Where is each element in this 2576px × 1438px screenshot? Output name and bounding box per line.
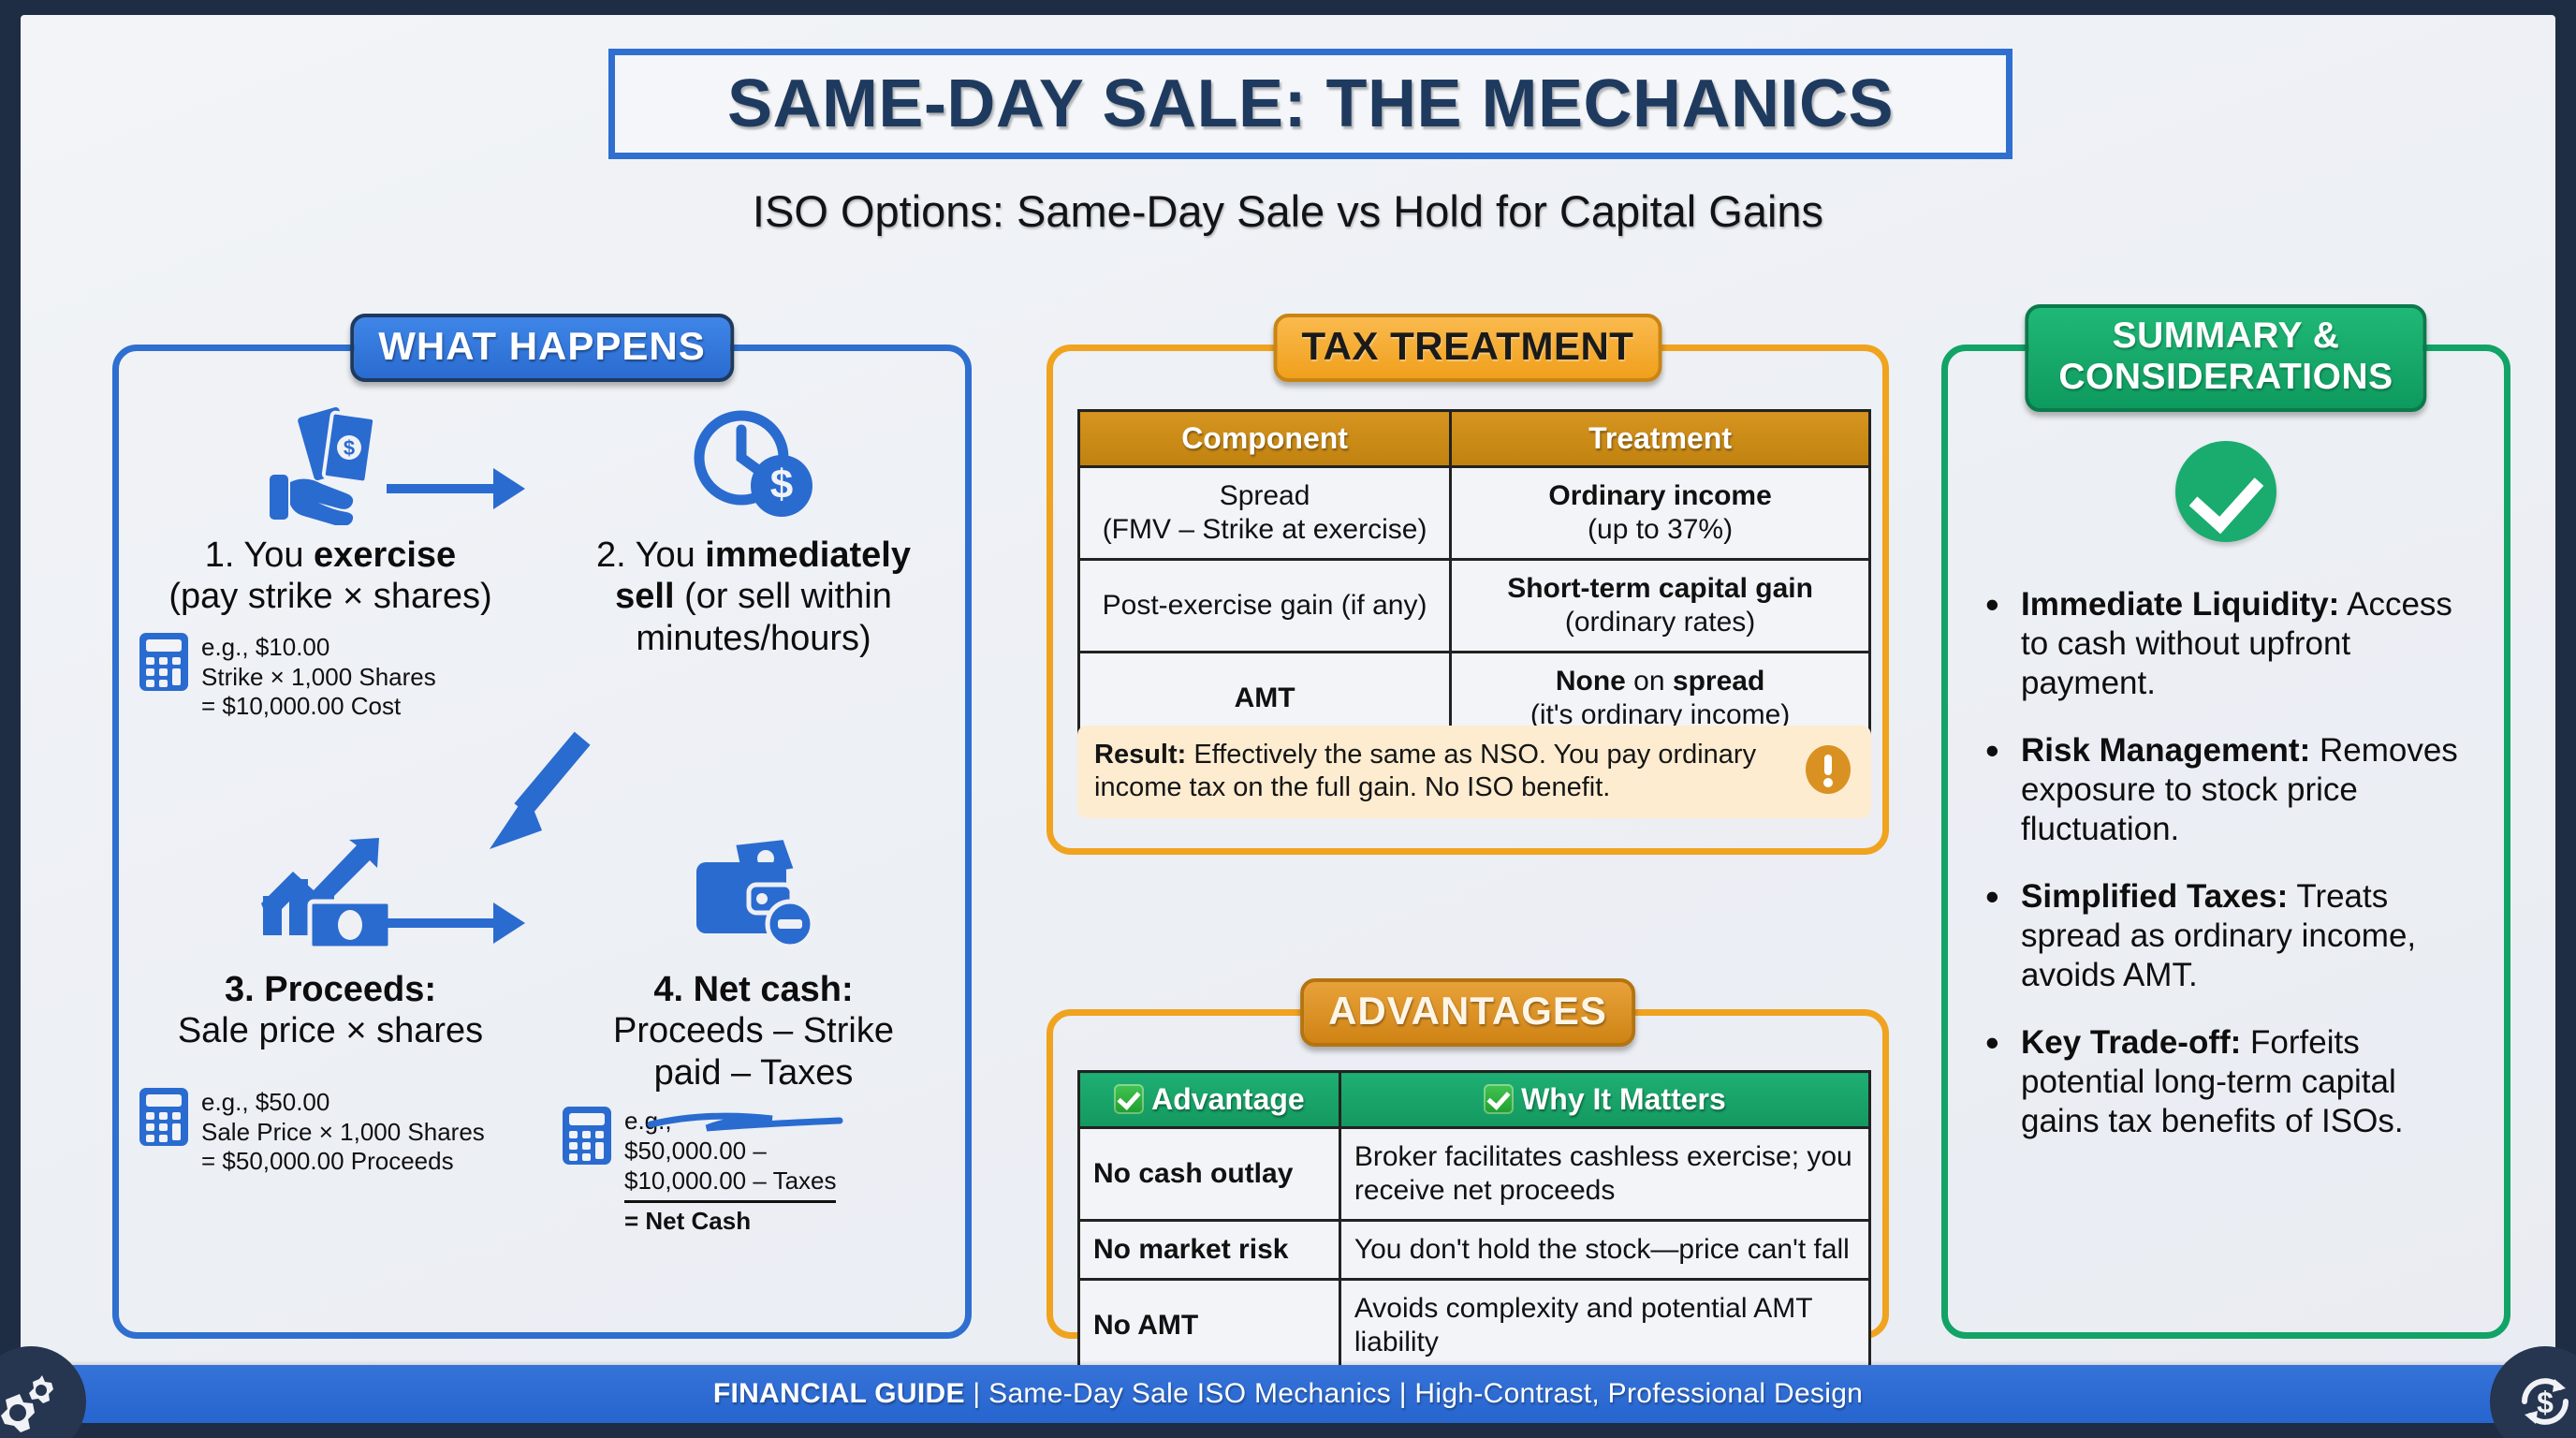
list-item: Simplified Taxes: Treats spread as ordin… bbox=[1980, 877, 2483, 995]
tax-row-3-treatment-bold-b: spread bbox=[1673, 666, 1764, 697]
list-item: Immediate Liquidity: Access to cash with… bbox=[1980, 585, 2483, 703]
table-header-row: Advantage Why It Matters bbox=[1079, 1072, 1870, 1128]
step-3-line1: 3. Proceeds: bbox=[225, 970, 436, 1009]
tax-row-2-treatment: Short-term capital gain (ordinary rates) bbox=[1451, 560, 1870, 653]
green-check-circle-icon bbox=[2175, 441, 2276, 542]
title-frame: SAME-DAY SALE: THE MECHANICS bbox=[608, 49, 2012, 159]
step-4-calc-line-2: $50,000.00 – bbox=[624, 1137, 767, 1165]
step-3-calc-line-3: = $50,000.00 Proceeds bbox=[201, 1147, 454, 1175]
step-3-calc-line-2: Sale Price × 1,000 Shares bbox=[201, 1118, 485, 1146]
step-2-line2-bold: sell bbox=[615, 577, 674, 616]
step-1-line1-bold: exercise bbox=[314, 536, 456, 575]
page-title: SAME-DAY SALE: THE MECHANICS bbox=[727, 66, 1894, 142]
table-row: No cash outlay Broker facilitates cashle… bbox=[1079, 1128, 1870, 1221]
tax-row-1-treatment-note: (up to 37%) bbox=[1588, 514, 1733, 545]
step-1-calc-line-3: = $10,000.00 Cost bbox=[201, 692, 401, 720]
adv-row-3-advantage: No AMT bbox=[1079, 1280, 1340, 1372]
footer-brand: FINANCIAL GUIDE bbox=[713, 1378, 965, 1409]
panel-badge-advantages: ADVANTAGES bbox=[1300, 978, 1635, 1047]
adv-row-2-advantage: No market risk bbox=[1079, 1221, 1340, 1280]
step-4-calc-total: = Net Cash bbox=[624, 1200, 836, 1237]
svg-text:$: $ bbox=[2537, 1386, 2554, 1419]
step-1-line2: (pay strike × shares) bbox=[168, 577, 491, 616]
step-1-line1-prefix: 1. You bbox=[205, 536, 314, 575]
step-3-calc-line-1: e.g., $50.00 bbox=[201, 1088, 329, 1116]
step-4-heading: 4. Net cash: Proceeds – Strike paid – Ta… bbox=[542, 969, 965, 1093]
tax-col-treatment: Treatment bbox=[1451, 411, 1870, 467]
footer-bar: FINANCIAL GUIDE | Same-Day Sale ISO Mech… bbox=[21, 1365, 2555, 1423]
tax-row-1-treatment: Ordinary income (up to 37%) bbox=[1451, 467, 1870, 560]
table-row: Spread (FMV – Strike at exercise) Ordina… bbox=[1079, 467, 1870, 560]
step-1-calc-text: e.g., $10.00 Strike × 1,000 Shares = $10… bbox=[201, 633, 436, 722]
clock-dollar-icon: $ bbox=[542, 394, 965, 535]
infographic-canvas: SAME-DAY SALE: THE MECHANICS ISO Options… bbox=[21, 15, 2555, 1423]
summary-bullet-1-label: Immediate Liquidity: bbox=[2021, 586, 2339, 623]
summary-bullet-3-label: Simplified Taxes: bbox=[2021, 878, 2288, 915]
tax-result-body: Effectively the same as NSO. You pay ord… bbox=[1094, 740, 1756, 802]
summary-bullet-2-label: Risk Management: bbox=[2021, 732, 2310, 769]
svg-text:$: $ bbox=[344, 436, 355, 460]
step-2-heading: 2. You immediately sell (or sell within … bbox=[542, 535, 965, 659]
step-2-line3: minutes/hours) bbox=[636, 619, 871, 658]
hand-holding-cash-icon: $ bbox=[119, 394, 542, 535]
adv-col-advantage: Advantage bbox=[1079, 1072, 1340, 1128]
svg-text:$: $ bbox=[770, 462, 793, 507]
step-1: $ 1. You exercise (pay strike × shares) bbox=[119, 394, 542, 722]
arrow-step1-to-step2 bbox=[387, 484, 497, 493]
panel-what-happens: WHAT HAPPENS $ bbox=[112, 345, 972, 1339]
step-1-heading: 1. You exercise (pay strike × shares) bbox=[119, 535, 542, 618]
tax-col-component: Component bbox=[1079, 411, 1451, 467]
step-2-line1-bold: immediately bbox=[705, 536, 911, 575]
adv-col-advantage-label: Advantage bbox=[1151, 1082, 1305, 1116]
step-4: 4. Net cash: Proceeds – Strike paid – Ta… bbox=[542, 829, 965, 1236]
table-row: No market risk You don't hold the stock—… bbox=[1079, 1221, 1870, 1280]
calculator-icon bbox=[139, 1088, 188, 1151]
table-row: No AMT Avoids complexity and potential A… bbox=[1079, 1280, 1870, 1372]
panel-advantages: ADVANTAGES Advantage Why It Matters bbox=[1046, 1009, 1889, 1339]
step-4-calc-line-3: $10,000.00 – Taxes bbox=[624, 1167, 836, 1195]
step-1-calc-line-1: e.g., $10.00 bbox=[201, 633, 329, 661]
step-2-line1-prefix: 2. You bbox=[596, 536, 705, 575]
step-2-line2-rest: (or sell within bbox=[675, 577, 892, 616]
panel-badge-tax-treatment: TAX TREATMENT bbox=[1274, 314, 1662, 382]
step-1-calc-line-2: Strike × 1,000 Shares bbox=[201, 663, 436, 691]
list-item: Risk Management: Removes exposure to sto… bbox=[1980, 731, 2483, 849]
step-2: $ 2. You immediately sell (or sell withi… bbox=[542, 394, 965, 722]
tax-row-2-treatment-bold: Short-term capital gain bbox=[1507, 573, 1813, 604]
panel-badge-what-happens: WHAT HAPPENS bbox=[350, 314, 734, 382]
list-item: Key Trade-off: Forfeits potential long-t… bbox=[1980, 1023, 2483, 1141]
tax-result-text: Result: Effectively the same as NSO. You… bbox=[1094, 739, 1789, 805]
tax-row-2-component: Post-exercise gain (if any) bbox=[1079, 560, 1451, 653]
arrow-step3-to-step4 bbox=[387, 918, 497, 928]
calculator-icon bbox=[139, 633, 188, 696]
summary-bullet-list: Immediate Liquidity: Access to cash with… bbox=[1980, 585, 2483, 1169]
panel-badge-summary: SUMMARY & CONSIDERATIONS bbox=[2025, 304, 2426, 412]
footer-text: FINANCIAL GUIDE | Same-Day Sale ISO Mech… bbox=[713, 1378, 1863, 1410]
advantages-table: Advantage Why It Matters No cash outlay … bbox=[1077, 1070, 1871, 1373]
tax-row-1-component-line1: Spread bbox=[1220, 480, 1310, 511]
table-header-row: Component Treatment bbox=[1079, 411, 1870, 467]
page-subtitle: ISO Options: Same-Day Sale vs Hold for C… bbox=[21, 185, 2555, 237]
step-4-line2: Proceeds – Strike bbox=[613, 1011, 894, 1050]
panel-tax-treatment: TAX TREATMENT Component Treatment Spread bbox=[1046, 345, 1889, 855]
panel-badge-summary-line1: SUMMARY & bbox=[2058, 315, 2393, 357]
step-3: 3. Proceeds: Sale price × shares bbox=[119, 829, 542, 1236]
adv-col-why: Why It Matters bbox=[1339, 1072, 1869, 1128]
step-3-calc-text: e.g., $50.00 Sale Price × 1,000 Shares =… bbox=[201, 1088, 485, 1177]
step-3-calc: e.g., $50.00 Sale Price × 1,000 Shares =… bbox=[119, 1088, 542, 1177]
steps-grid: $ 1. You exercise (pay strike × shares) bbox=[119, 351, 965, 1332]
panel-badge-summary-line2: CONSIDERATIONS bbox=[2058, 357, 2393, 398]
adv-row-3-why: Avoids complexity and potential AMT liab… bbox=[1339, 1280, 1869, 1372]
adv-row-1-why: Broker facilitates cashless exercise; yo… bbox=[1339, 1128, 1869, 1221]
exclamation-circle-icon bbox=[1802, 743, 1854, 800]
tax-treatment-table: Component Treatment Spread (FMV – Strike… bbox=[1077, 409, 1871, 746]
infographic-root: SAME-DAY SALE: THE MECHANICS ISO Options… bbox=[0, 0, 2576, 1438]
check-box-icon bbox=[1484, 1084, 1514, 1114]
step-3-line2: Sale price × shares bbox=[178, 1011, 483, 1050]
panel-summary-considerations: SUMMARY & CONSIDERATIONS Immediate Liqui… bbox=[1941, 345, 2510, 1339]
wallet-minus-icon bbox=[542, 829, 965, 969]
underline-swoosh bbox=[647, 1104, 843, 1136]
step-4-line1: 4. Net cash: bbox=[653, 970, 853, 1009]
adv-col-why-label: Why It Matters bbox=[1521, 1082, 1726, 1116]
table-row: Post-exercise gain (if any) Short-term c… bbox=[1079, 560, 1870, 653]
advantages-table-wrap: Advantage Why It Matters No cash outlay … bbox=[1077, 1070, 1871, 1373]
summary-bullet-4-label: Key Trade-off: bbox=[2021, 1024, 2241, 1061]
adv-row-2-why: You don't hold the stock—price can't fal… bbox=[1339, 1221, 1869, 1280]
tax-row-3-treatment-mid: on bbox=[1626, 666, 1673, 697]
tax-row-1-component: Spread (FMV – Strike at exercise) bbox=[1079, 467, 1451, 560]
tax-row-1-component-line2: (FMV – Strike at exercise) bbox=[1103, 514, 1427, 545]
tax-treatment-table-wrap: Component Treatment Spread (FMV – Strike… bbox=[1077, 409, 1871, 746]
adv-row-1-advantage: No cash outlay bbox=[1079, 1128, 1340, 1221]
step-4-line3: paid – Taxes bbox=[654, 1053, 854, 1093]
tax-result-label: Result: bbox=[1094, 740, 1186, 770]
step-3-heading: 3. Proceeds: Sale price × shares bbox=[119, 969, 542, 1052]
tax-row-2-treatment-note: (ordinary rates) bbox=[1565, 607, 1755, 638]
tax-row-3-treatment-bold-a: None bbox=[1556, 666, 1626, 697]
tax-result-callout: Result: Effectively the same as NSO. You… bbox=[1077, 726, 1871, 818]
growth-chart-cash-icon bbox=[119, 829, 542, 969]
tax-row-1-treatment-bold: Ordinary income bbox=[1548, 480, 1771, 511]
step-1-calc: e.g., $10.00 Strike × 1,000 Shares = $10… bbox=[119, 633, 542, 722]
footer-rest: | Same-Day Sale ISO Mechanics | High-Con… bbox=[965, 1378, 1863, 1409]
check-box-icon bbox=[1114, 1084, 1144, 1114]
calculator-icon bbox=[563, 1107, 611, 1169]
